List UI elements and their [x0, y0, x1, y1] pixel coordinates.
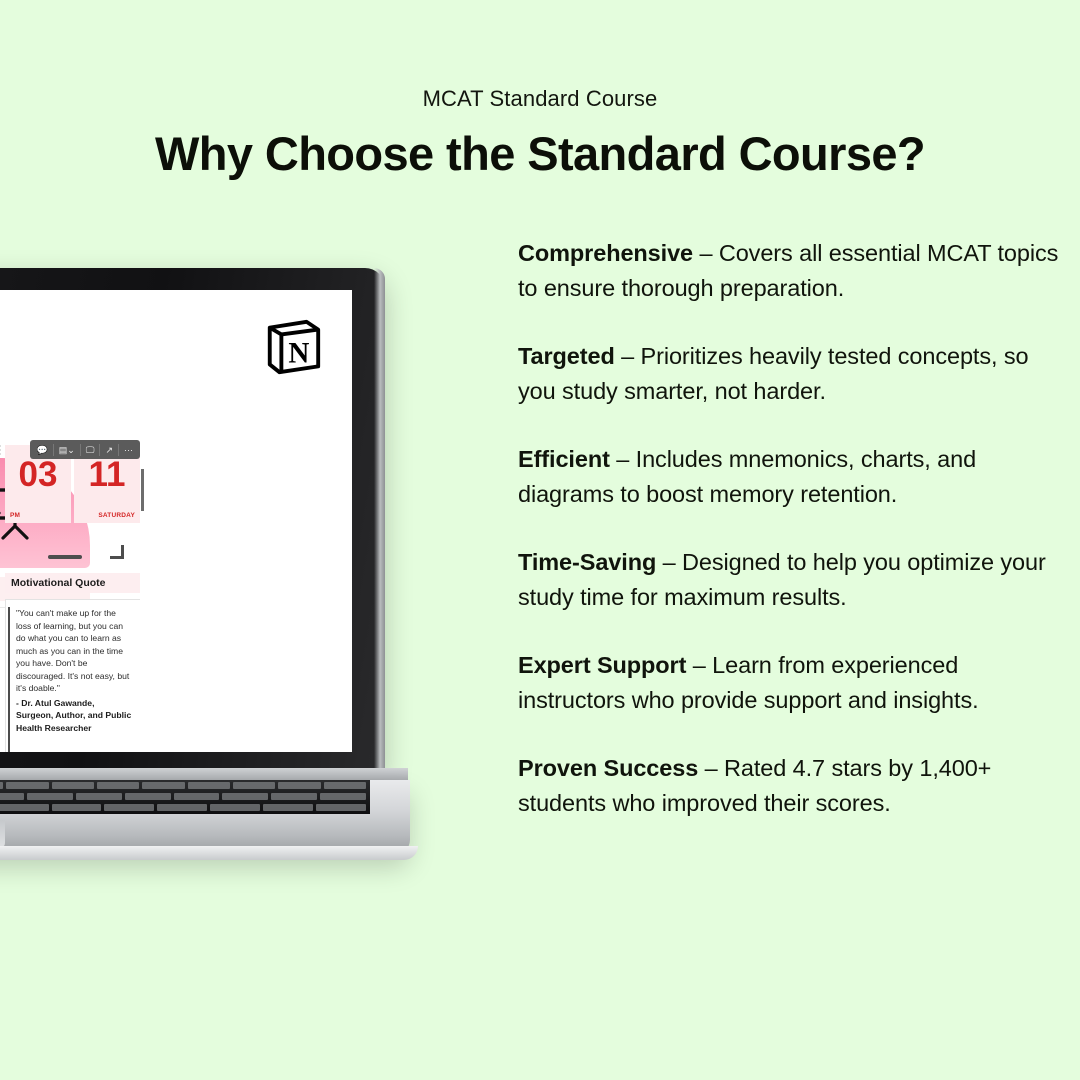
page-title: Why Choose the Standard Course?	[0, 126, 1080, 181]
laptop-keyboard	[0, 780, 370, 814]
quote-text: "You can't make up for the loss of learn…	[16, 607, 133, 695]
list-item: Proven Success – Rated 4.7 stars by 1,40…	[518, 751, 1066, 820]
more-icon[interactable]: ···	[119, 444, 138, 456]
quote-body: "You can't make up for the loss of learn…	[5, 599, 140, 752]
resize-handle[interactable]	[48, 555, 82, 559]
scrollbar[interactable]	[141, 469, 144, 511]
feature-list: Comprehensive – Covers all essential MCA…	[518, 236, 1066, 820]
feature-term: Expert Support	[518, 652, 686, 678]
resize-corner-icon[interactable]	[110, 545, 124, 559]
feature-dash: –	[610, 446, 636, 472]
laptop-trackpad	[0, 820, 5, 848]
list-item: Expert Support – Learn from experienced …	[518, 648, 1066, 717]
laptop-screen: N	[0, 290, 352, 752]
layout-icon[interactable]: ▤⌄	[54, 444, 81, 456]
laptop-base-front	[0, 846, 418, 860]
feature-dash: –	[656, 549, 682, 575]
quote-block: Motivational Quote "You can't make up fo…	[5, 573, 140, 752]
feature-dash: –	[686, 652, 712, 678]
comment-icon[interactable]: 💬	[32, 444, 54, 456]
list-item: Comprehensive – Covers all essential MCA…	[518, 236, 1066, 305]
display-icon[interactable]: 🖵	[81, 444, 101, 456]
drag-handle-icon[interactable]	[0, 445, 2, 455]
feature-term: Comprehensive	[518, 240, 693, 266]
laptop-mockup: N	[0, 268, 495, 883]
calendar-meridiem: PM	[10, 512, 20, 519]
feature-term: Proven Success	[518, 755, 698, 781]
page-header: MCAT Standard Course Why Choose the Stan…	[0, 0, 1080, 181]
svg-text:N: N	[288, 338, 309, 370]
feature-dash: –	[698, 755, 724, 781]
laptop-lid: N	[0, 268, 385, 773]
quote-title: Motivational Quote	[5, 573, 140, 593]
list-item: Time-Saving – Designed to help you optim…	[518, 545, 1066, 614]
list-item: Efficient – Includes mnemonics, charts, …	[518, 442, 1066, 511]
block-handles[interactable]: ＋	[0, 442, 2, 457]
widget-toolbar[interactable]: 💬 ▤⌄ 🖵 ↗ ···	[30, 440, 141, 459]
quote-author: - Dr. Atul Gawande, Surgeon, Author, and…	[16, 697, 133, 735]
calendar-day-name: SATURDAY	[98, 512, 135, 519]
notion-logo-icon: N	[262, 316, 324, 378]
calendar-widget[interactable]: ＋ 💬 ▤⌄ 🖵 ↗ ··· 03 PM 11	[5, 440, 140, 523]
feature-term: Efficient	[518, 446, 610, 472]
feature-term: Targeted	[518, 343, 615, 369]
expand-icon[interactable]: ↗	[100, 444, 119, 456]
feature-dash: –	[615, 343, 641, 369]
eyebrow-text: MCAT Standard Course	[0, 86, 1080, 112]
feature-term: Time-Saving	[518, 549, 656, 575]
list-item: Targeted – Prioritizes heavily tested co…	[518, 339, 1066, 408]
feature-dash: –	[693, 240, 719, 266]
